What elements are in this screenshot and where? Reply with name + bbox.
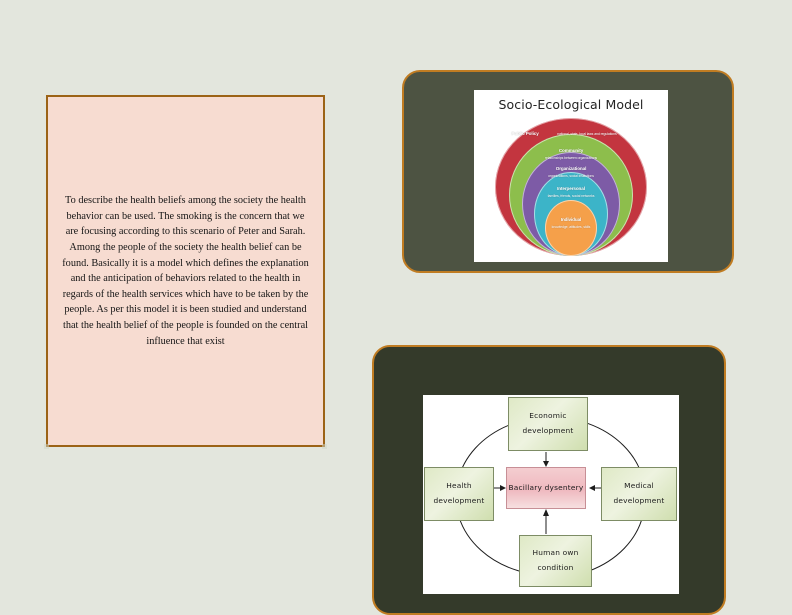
- sem-label-interpersonal: Interpersonal families, friends, social …: [474, 177, 668, 199]
- slide-canvas: To describe the health beliefs among the…: [0, 0, 792, 612]
- body-text-container: To describe the health beliefs among the…: [48, 97, 323, 349]
- flow-node-economic-line2: development: [523, 424, 574, 439]
- sem-label-community-title: Community: [559, 148, 583, 153]
- flow-node-economic-development[interactable]: Economic development: [508, 397, 588, 451]
- sem-label-public-policy: Public Policy national, state, local law…: [474, 122, 668, 140]
- flow-node-human-line1: Human own: [532, 546, 578, 561]
- flow-node-health-line1: Health: [446, 479, 471, 494]
- flow-node-bacillary-dysentery[interactable]: Bacillary dysentery: [506, 467, 586, 509]
- sem-title: Socio-Ecological Model: [474, 97, 668, 112]
- flow-node-medical-line2: development: [614, 494, 665, 509]
- flow-node-health-line2: development: [434, 494, 485, 509]
- resize-handle-bottom-right[interactable]: [322, 444, 327, 449]
- socio-ecological-model-image[interactable]: Socio-Ecological Model Public Policy nat…: [474, 90, 668, 262]
- sem-label-interpersonal-title: Interpersonal: [557, 186, 585, 191]
- flow-node-health-development[interactable]: Health development: [424, 467, 494, 521]
- bacillary-dysentery-diagram-card[interactable]: Economic development Health development …: [372, 345, 726, 615]
- flow-node-human-own-condition[interactable]: Human own condition: [519, 535, 592, 587]
- body-text-panel[interactable]: To describe the health beliefs among the…: [46, 95, 325, 447]
- flow-node-economic-line1: Economic: [529, 409, 566, 424]
- sem-label-individual-subtitle: knowledge, attitudes, skills: [474, 226, 668, 230]
- sem-label-interpersonal-subtitle: families, friends, social networks: [474, 195, 668, 199]
- socio-ecological-model-card[interactable]: Socio-Ecological Model Public Policy nat…: [402, 70, 734, 273]
- flow-node-center-label: Bacillary dysentery: [509, 481, 584, 496]
- flow-node-medical-line1: Medical: [624, 479, 654, 494]
- sem-label-public-policy-title: Public Policy: [511, 131, 538, 136]
- body-paragraph: To describe the health beliefs among the…: [62, 193, 309, 349]
- flow-node-human-line2: condition: [538, 561, 574, 576]
- resize-handle-bottom-left[interactable]: [44, 444, 49, 449]
- sem-label-individual: Individual knowledge, attitudes, skills: [474, 208, 668, 230]
- sem-label-organizational-title: Organizational: [556, 166, 587, 171]
- bacillary-dysentery-diagram-image[interactable]: Economic development Health development …: [423, 395, 679, 594]
- sem-label-public-policy-subtitle: national, state, local laws and regulati…: [543, 132, 631, 136]
- sem-label-organizational: Organizational organizations, social ins…: [474, 157, 668, 179]
- sem-label-individual-title: Individual: [561, 217, 581, 222]
- flow-node-medical-development[interactable]: Medical development: [601, 467, 677, 521]
